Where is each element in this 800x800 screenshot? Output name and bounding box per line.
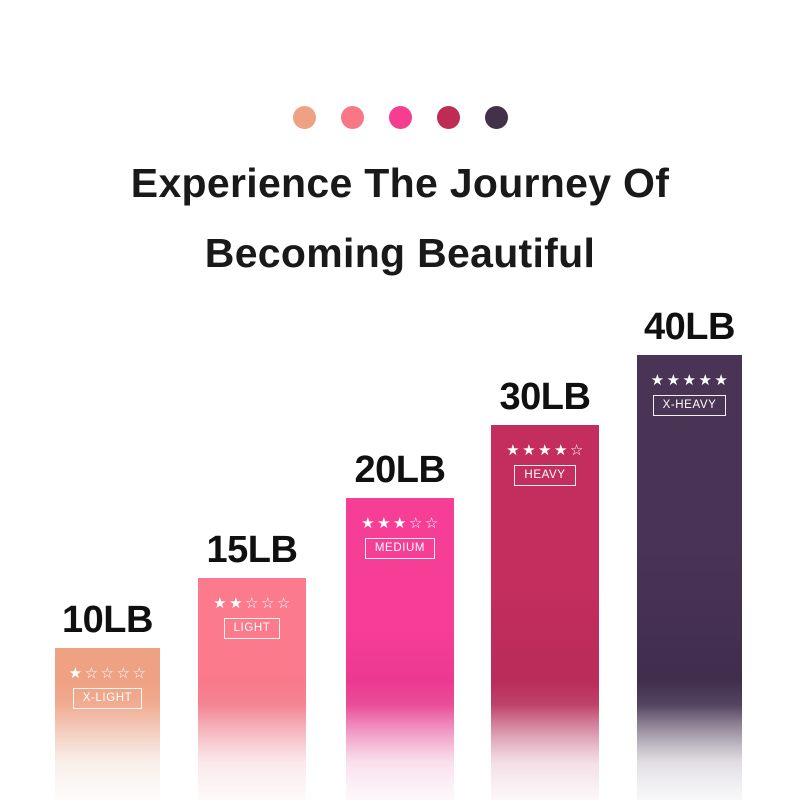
star-filled-icon: ★ [506, 443, 520, 458]
bar-bottom-fade [346, 680, 454, 800]
rating-stars-20lb: ★★★☆☆ [361, 516, 439, 531]
star-empty-icon: ☆ [261, 596, 275, 611]
star-empty-icon: ☆ [570, 443, 584, 458]
bar-bottom-fade [491, 680, 599, 800]
bar-group-15lb[interactable]: 15LB★★☆☆☆LIGHT [198, 518, 306, 800]
bar-group-10lb[interactable]: 10LB★☆☆☆☆X-LIGHT [55, 588, 160, 800]
star-filled-icon: ★ [683, 373, 697, 388]
level-badge-20lb: MEDIUM [365, 538, 435, 559]
bar-20lb[interactable]: ★★★☆☆MEDIUM [346, 498, 454, 800]
bar-weight-label-40lb: 40LB [644, 306, 735, 349]
bar-bottom-fade [198, 680, 306, 800]
level-badge-30lb: HEAVY [514, 465, 575, 486]
star-empty-icon: ☆ [409, 516, 423, 531]
rating-stars-40lb: ★★★★★ [651, 373, 729, 388]
star-empty-icon: ☆ [425, 516, 439, 531]
star-filled-icon: ★ [377, 516, 391, 531]
level-badge-15lb: LIGHT [224, 618, 281, 639]
bar-40lb[interactable]: ★★★★★X-HEAVY [637, 355, 742, 800]
star-filled-icon: ★ [698, 373, 712, 388]
star-filled-icon: ★ [538, 443, 552, 458]
bar-15lb[interactable]: ★★☆☆☆LIGHT [198, 578, 306, 800]
bar-10lb[interactable]: ★☆☆☆☆X-LIGHT [55, 648, 160, 800]
level-badge-40lb: X-HEAVY [653, 395, 727, 416]
star-empty-icon: ☆ [101, 666, 115, 681]
bar-30lb[interactable]: ★★★★☆HEAVY [491, 425, 599, 800]
star-filled-icon: ★ [651, 373, 665, 388]
bar-content-40lb: ★★★★★X-HEAVY [637, 373, 742, 416]
bar-content-30lb: ★★★★☆HEAVY [491, 443, 599, 486]
bar-weight-label-30lb: 30LB [500, 376, 591, 419]
star-filled-icon: ★ [393, 516, 407, 531]
star-filled-icon: ★ [522, 443, 536, 458]
bar-content-20lb: ★★★☆☆MEDIUM [346, 516, 454, 559]
star-filled-icon: ★ [554, 443, 568, 458]
star-filled-icon: ★ [69, 666, 83, 681]
product-infographic: Experience The Journey Of Becoming Beaut… [0, 0, 800, 800]
bar-group-20lb[interactable]: 20LB★★★☆☆MEDIUM [346, 438, 454, 800]
bar-weight-label-20lb: 20LB [355, 449, 446, 492]
bar-weight-label-15lb: 15LB [207, 529, 298, 572]
rating-stars-30lb: ★★★★☆ [506, 443, 584, 458]
bar-content-10lb: ★☆☆☆☆X-LIGHT [55, 666, 160, 709]
star-empty-icon: ☆ [116, 666, 130, 681]
bar-weight-label-10lb: 10LB [62, 599, 153, 642]
star-filled-icon: ★ [213, 596, 227, 611]
resistance-band-bar-chart: 10LB★☆☆☆☆X-LIGHT15LB★★☆☆☆LIGHT20LB★★★☆☆M… [0, 0, 800, 800]
bar-group-30lb[interactable]: 30LB★★★★☆HEAVY [491, 365, 599, 800]
star-empty-icon: ☆ [277, 596, 291, 611]
level-badge-10lb: X-LIGHT [73, 688, 143, 709]
rating-stars-15lb: ★★☆☆☆ [213, 596, 291, 611]
star-empty-icon: ☆ [245, 596, 259, 611]
bar-content-15lb: ★★☆☆☆LIGHT [198, 596, 306, 639]
bar-bottom-fade [637, 680, 742, 800]
rating-stars-10lb: ★☆☆☆☆ [69, 666, 147, 681]
bar-group-40lb[interactable]: 40LB★★★★★X-HEAVY [637, 295, 742, 800]
star-filled-icon: ★ [714, 373, 728, 388]
star-filled-icon: ★ [667, 373, 681, 388]
star-filled-icon: ★ [361, 516, 375, 531]
star-filled-icon: ★ [229, 596, 243, 611]
star-empty-icon: ☆ [85, 666, 99, 681]
star-empty-icon: ☆ [132, 666, 146, 681]
